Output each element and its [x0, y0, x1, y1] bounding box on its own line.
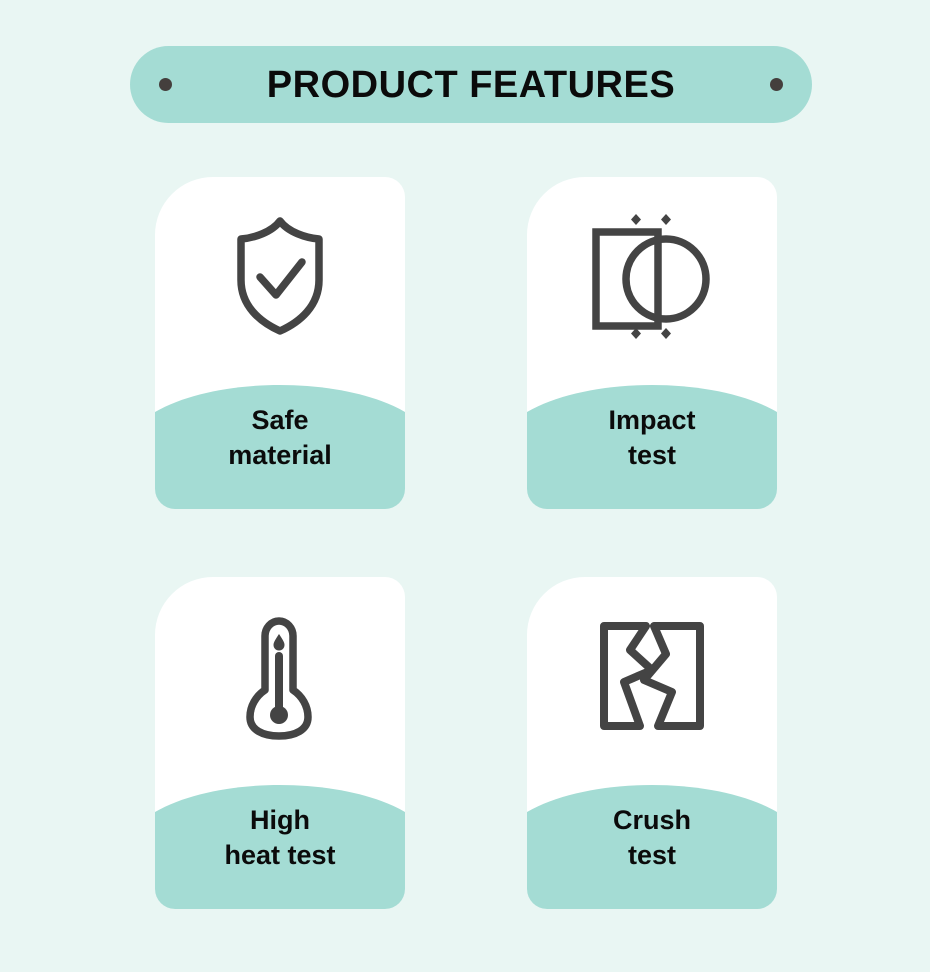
card-label-high-heat-test: High heat test — [155, 781, 405, 909]
card-label-line1: Safe — [251, 403, 308, 438]
card-label-line1: Impact — [608, 403, 695, 438]
card-label-crush-test: Crush test — [527, 781, 777, 909]
banner-right-dot-icon — [770, 78, 783, 91]
card-label-line1: High — [250, 803, 310, 838]
card-label-line1: Crush — [613, 803, 691, 838]
card-label-line2: test — [628, 438, 676, 473]
page-title: PRODUCT FEATURES — [267, 66, 675, 104]
feature-card-crush-test[interactable]: Crush test — [527, 577, 777, 909]
card-label-line2: heat test — [224, 838, 335, 873]
feature-card-high-heat-test[interactable]: High heat test — [155, 577, 405, 909]
page-title-banner: PRODUCT FEATURES — [130, 46, 812, 123]
thermometer-icon — [155, 577, 405, 775]
product-features-page: PRODUCT FEATURES Safe material — [0, 0, 930, 972]
feature-card-grid: Safe material — [155, 177, 777, 909]
card-label-line2: test — [628, 838, 676, 873]
feature-card-impact-test[interactable]: Impact test — [527, 177, 777, 509]
impact-shapes-icon — [527, 177, 777, 375]
card-label-impact-test: Impact test — [527, 381, 777, 509]
banner-left-dot-icon — [159, 78, 172, 91]
shield-check-icon — [155, 177, 405, 375]
card-label-safe-material: Safe material — [155, 381, 405, 509]
feature-card-safe-material[interactable]: Safe material — [155, 177, 405, 509]
cracked-panel-icon — [527, 577, 777, 775]
card-label-line2: material — [228, 438, 332, 473]
